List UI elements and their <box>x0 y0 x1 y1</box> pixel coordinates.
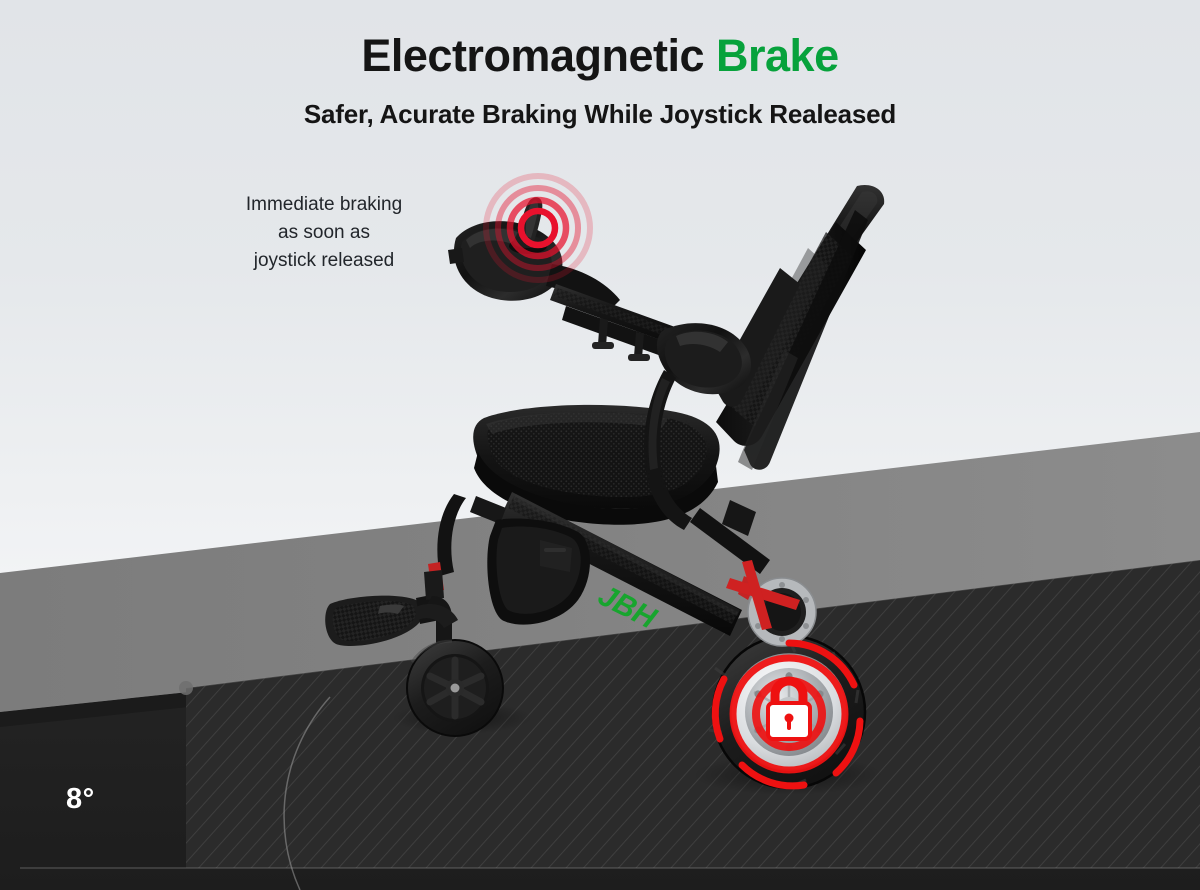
ramp-scene <box>0 0 1200 890</box>
page-title: Electromagnetic Brake <box>0 30 1200 82</box>
wheel-lock-indicator <box>700 635 880 795</box>
title-accent-text: Brake <box>716 30 839 81</box>
promo-banner: JBH Electromagnetic Brake Safer, Acurate… <box>0 0 1200 890</box>
signal-pulse-icon <box>482 172 594 284</box>
title-main-text: Electromagnetic <box>361 30 704 81</box>
page-subtitle: Safer, Acurate Braking While Joystick Re… <box>0 99 1200 130</box>
incline-angle-label: 8° <box>66 783 95 816</box>
callout-line-1: Immediate braking <box>208 191 440 219</box>
callout-text-block: Immediate braking as soon as joystick re… <box>208 191 440 275</box>
padlock-icon <box>768 681 810 739</box>
callout-line-2: as soon as <box>208 219 440 247</box>
callout-line-3: joystick released <box>208 247 440 275</box>
joystick-pulse-indicator <box>482 172 594 284</box>
